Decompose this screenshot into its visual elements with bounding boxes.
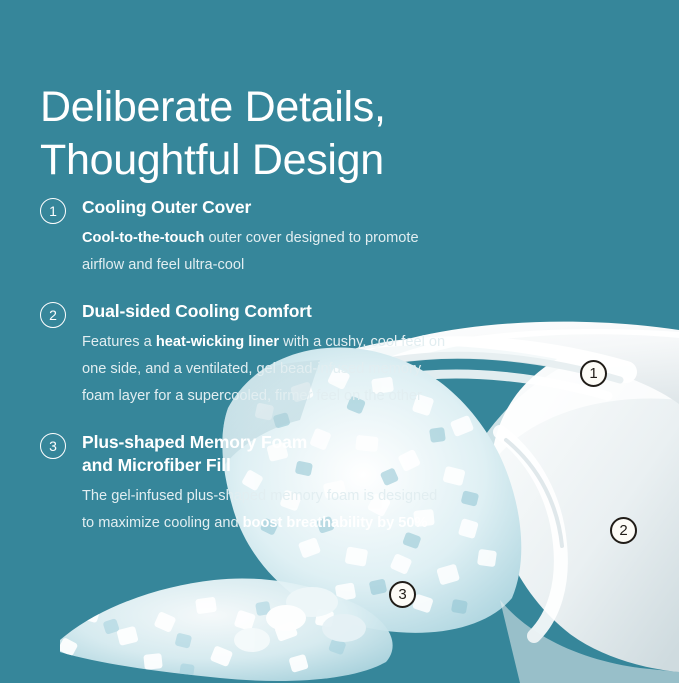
feature-body-1: Cool-to-the-touch outer cover designed t… [82, 225, 448, 279]
page-title: Deliberate Details, Thoughtful Design [40, 81, 560, 187]
feature-item-2: 2 Dual-sided Cooling Comfort Features a … [38, 300, 448, 410]
feature-heading-1: Cooling Outer Cover [82, 196, 448, 219]
foam-cluster-tip [234, 587, 366, 652]
pillow-lower-edge [500, 600, 679, 683]
spilled-foam [40, 560, 420, 683]
feature-body-2: Features a heat-wicking liner with a cus… [82, 329, 448, 410]
feature-body-3: The gel-infused plus-shaped memory foam … [82, 483, 448, 537]
feature-body-1-lead: Cool-to-the-touch [82, 230, 204, 246]
feature-marker-1: 1 [40, 198, 66, 224]
feature-body-2-lead: heat-wicking liner [156, 334, 279, 350]
feature-heading-2: Dual-sided Cooling Comfort [82, 300, 448, 323]
feature-item-1: 1 Cooling Outer Cover Cool-to-the-touch … [38, 196, 448, 279]
feature-list: 1 Cooling Outer Cover Cool-to-the-touch … [38, 196, 448, 537]
feature-body-2-pre: Features a [82, 334, 156, 350]
photo-callout-1: 1 [580, 360, 607, 387]
photo-callout-2: 2 [610, 517, 637, 544]
infographic-panel: Deliberate Details, Thoughtful Design 1 … [0, 0, 679, 683]
feature-body-3-lead: boost breathability by 50% [243, 515, 428, 531]
photo-callout-3: 3 [389, 581, 416, 608]
feature-marker-2: 2 [40, 302, 66, 328]
feature-heading-3: Plus-shaped Memory Foam and Microfiber F… [82, 431, 448, 477]
feature-item-3: 3 Plus-shaped Memory Foam and Microfiber… [38, 431, 448, 537]
feature-marker-3: 3 [40, 433, 66, 459]
